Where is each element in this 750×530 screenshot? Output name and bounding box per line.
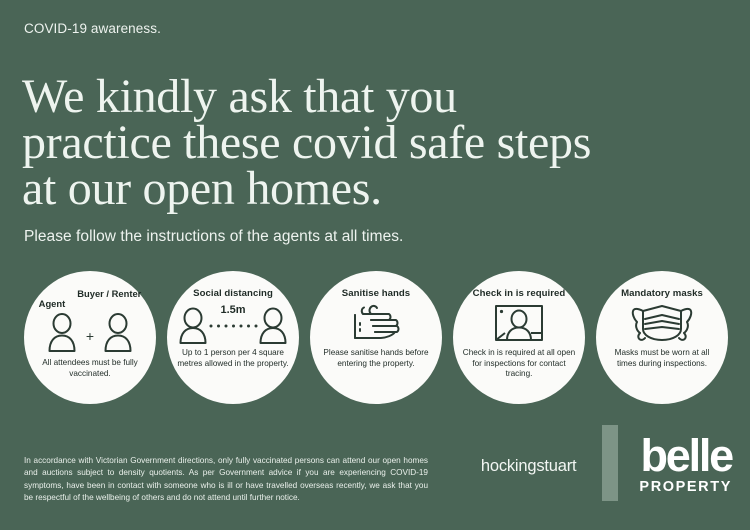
disclaimer-text: In accordance with Victorian Government … <box>24 455 428 505</box>
step-masks-title: Mandatory masks <box>621 288 703 299</box>
headline-line-1: We kindly ask that you <box>22 74 722 120</box>
checkin-card-icon <box>493 301 545 345</box>
face-mask-icon <box>631 301 693 345</box>
headline-line-2: practice these covid safe steps <box>22 120 722 166</box>
distance-value: 1.5m <box>220 304 245 316</box>
distance-people-icon: 1.5m <box>179 301 287 345</box>
step-check-in-body: Check in is required at all open for ins… <box>461 348 577 380</box>
logo-divider <box>602 425 618 501</box>
belle-wordmark: belle <box>640 436 732 476</box>
headline-line-3: at our open homes. <box>22 166 722 212</box>
step-sanitise-hands-body: Please sanitise hands before entering th… <box>318 348 434 369</box>
step-card-social-distancing: Social distancing 1.5m <box>167 271 299 404</box>
step-masks-body: Masks must be worn at all times during i… <box>604 348 720 369</box>
steps-row: Agent Buyer / Renter + All attendees mus… <box>24 271 728 411</box>
step-social-distancing-body: Up to 1 person per 4 square metres allow… <box>175 348 291 369</box>
svg-text:+: + <box>86 328 94 344</box>
belle-property-logo: belle PROPERTY <box>639 436 732 495</box>
page-title: We kindly ask that you practice these co… <box>22 74 722 212</box>
step-card-check-in: Check in is required Check in is require… <box>453 271 585 404</box>
step-vaccination-labels: Agent Buyer / Renter <box>30 288 150 309</box>
step-vaccination-body: All attendees must be fully vaccinated. <box>32 358 148 379</box>
hand-icon <box>349 301 403 345</box>
covid-awareness-poster: COVID-19 awareness. We kindly ask that y… <box>0 0 750 530</box>
label-buyer-renter: Buyer / Renter <box>77 288 141 299</box>
belle-subtitle: PROPERTY <box>639 479 732 495</box>
step-social-distancing-title: Social distancing <box>193 288 273 299</box>
step-card-sanitise-hands: Sanitise hands Please s <box>310 271 442 404</box>
label-agent: Agent <box>39 288 66 309</box>
hockingstuart-logo: hockingstuart <box>481 457 577 476</box>
two-people-plus-icon: + <box>41 311 139 355</box>
step-card-vaccination: Agent Buyer / Renter + All attendees mus… <box>24 271 156 404</box>
eyebrow-label: COVID-19 awareness. <box>24 21 161 36</box>
brand-logos: hockingstuart belle PROPERTY <box>481 424 732 502</box>
step-check-in-title: Check in is required <box>473 288 566 299</box>
step-sanitise-hands-title: Sanitise hands <box>342 288 410 299</box>
step-card-masks: Mandatory masks Masks must be worn at al… <box>596 271 728 404</box>
subheading: Please follow the instructions of the ag… <box>24 228 403 246</box>
